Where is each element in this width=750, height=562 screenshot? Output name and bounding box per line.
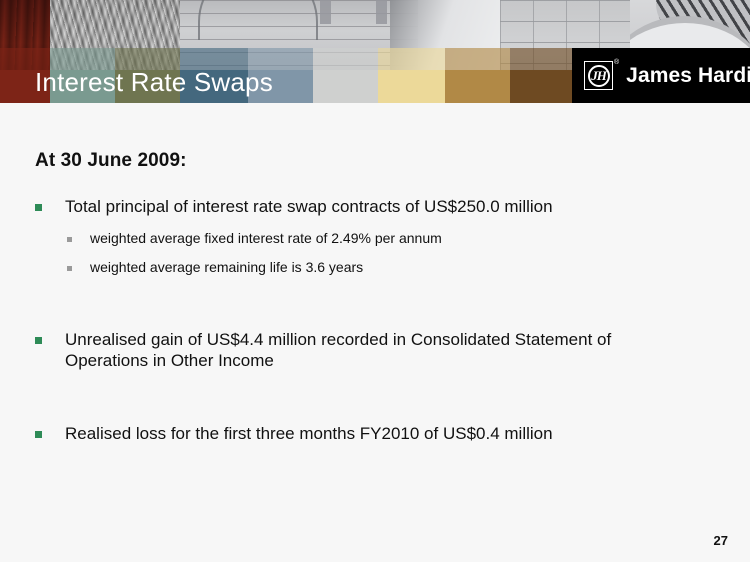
bullet-marker-gray-square-icon — [67, 237, 72, 242]
bullet-text: Realised loss for the first three months… — [65, 423, 553, 444]
bullet-item: Unrealised gain of US$4.4 million record… — [0, 329, 750, 371]
swatch-tint-solid — [313, 70, 378, 103]
swatch-tint-top — [510, 48, 572, 70]
bullet-marker-gray-square-icon — [67, 266, 72, 271]
swatch-tint-solid — [378, 70, 445, 103]
bullet-item: weighted average remaining life is 3.6 y… — [0, 258, 750, 277]
brand-logo-plate: JH ® James Hardie — [572, 48, 750, 103]
header-swatch-brown — [510, 48, 572, 103]
bullet-list: Total principal of interest rate swap co… — [0, 196, 750, 456]
bullet-marker-green-square-icon — [35, 431, 42, 438]
bullet-text: weighted average fixed interest rate of … — [90, 229, 442, 248]
slide-header-banner: JH ® James Hardie Interest Rate Swaps — [0, 0, 750, 103]
slide-title: Interest Rate Swaps — [35, 63, 273, 101]
bullet-spacer — [0, 287, 750, 329]
bullet-text: Unrealised gain of US$4.4 million record… — [65, 329, 685, 371]
page-number: 27 — [714, 533, 728, 548]
header-swatch-cream — [378, 48, 445, 103]
bullet-marker-green-square-icon — [35, 204, 42, 211]
bullet-text: Total principal of interest rate swap co… — [65, 196, 553, 217]
bullet-marker-green-square-icon — [35, 337, 42, 344]
brand-name-text: James Hardie — [626, 64, 750, 88]
presentation-slide: JH ® James Hardie Interest Rate Swaps At… — [0, 0, 750, 562]
bullet-item: Realised loss for the first three months… — [0, 423, 750, 444]
james-hardie-logo-icon: JH — [584, 61, 613, 90]
swatch-tint-solid — [510, 70, 572, 103]
swatch-tint-top — [378, 48, 445, 70]
header-swatch-tan-gold — [445, 48, 510, 103]
bullet-spacer — [0, 383, 750, 423]
page-subheading: At 30 June 2009: — [35, 150, 187, 172]
bullet-text: weighted average remaining life is 3.6 y… — [90, 258, 363, 277]
swatch-tint-top — [313, 48, 378, 70]
registered-trademark-icon: ® — [614, 59, 619, 66]
bullet-item: Total principal of interest rate swap co… — [0, 196, 750, 217]
swatch-tint-solid — [445, 70, 510, 103]
swatch-tint-top — [445, 48, 510, 70]
logo-monogram-text: JH — [585, 62, 612, 89]
header-swatch-light-gray — [313, 48, 378, 103]
bullet-item: weighted average fixed interest rate of … — [0, 229, 750, 248]
